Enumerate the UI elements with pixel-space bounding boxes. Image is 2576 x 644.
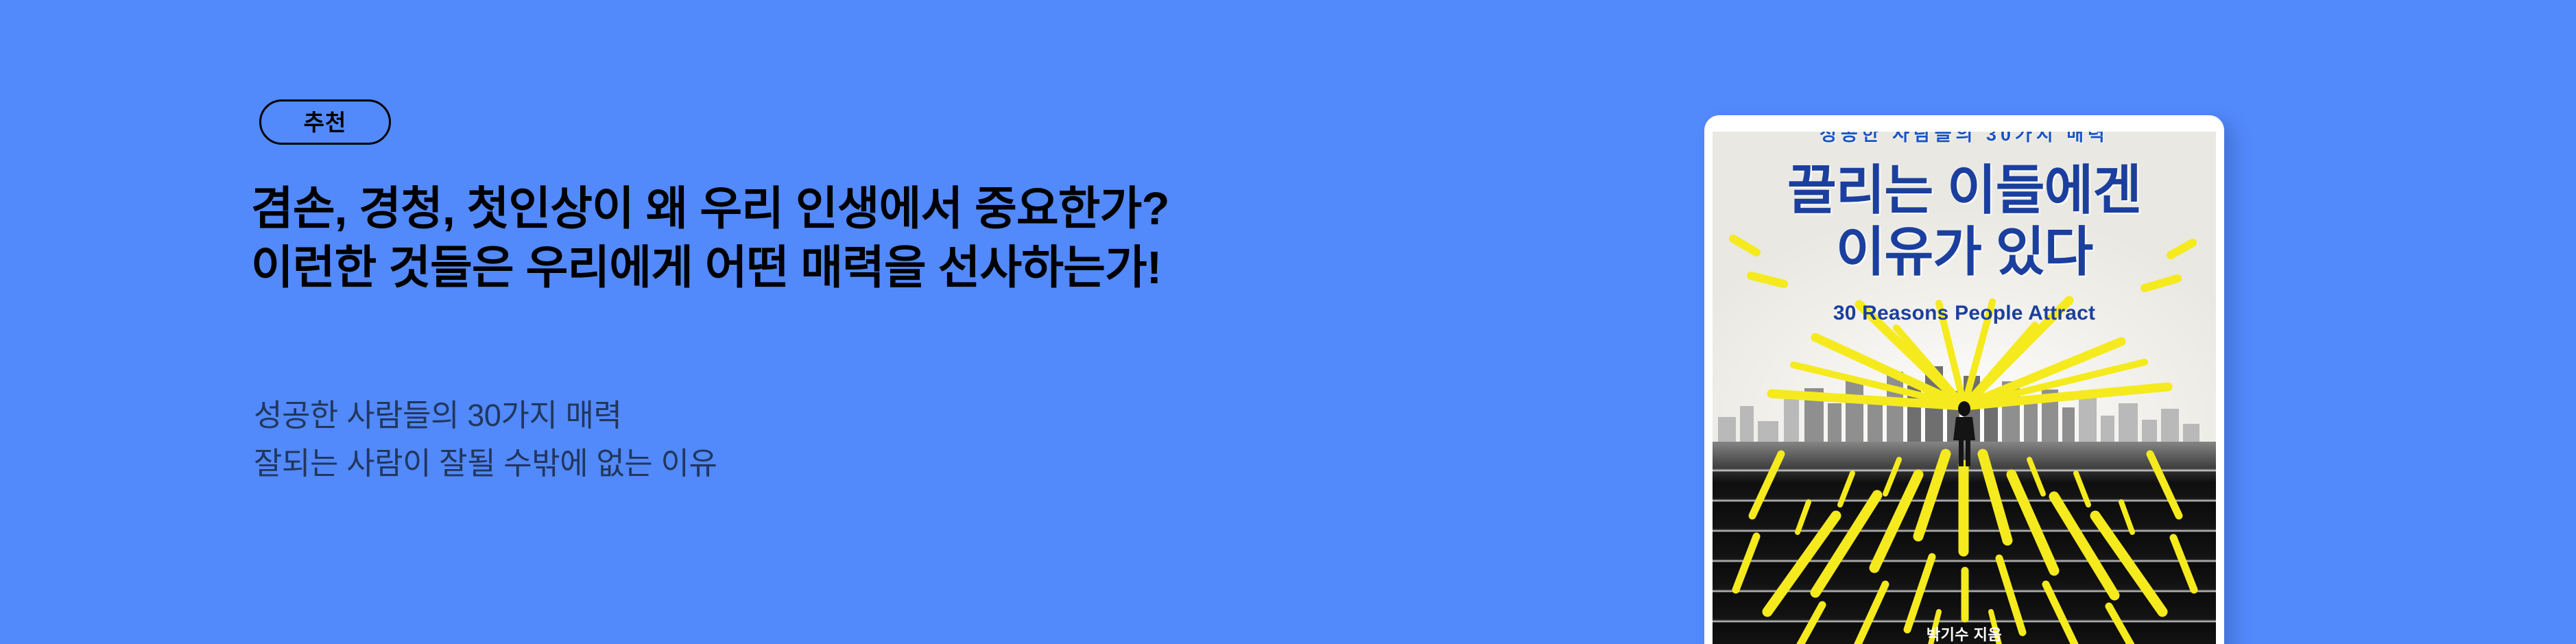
promo-banner: 추천 겸손, 경청, 첫인상이 왜 우리 인생에서 중요한가? 이런한 것들은 … — [0, 0, 2576, 644]
headline-line-2: 이런한 것들은 우리에게 어떤 매력을 선사하는가! — [251, 239, 1169, 298]
businessman-silhouette-icon — [1946, 401, 1982, 466]
subcopy-line-1: 성공한 사람들의 30가지 매력 — [254, 392, 717, 440]
cover-author: 박기수 지음 — [1713, 623, 2216, 644]
cover-title-line-2: 이유가 있다 — [1713, 221, 2216, 283]
recommendation-badge[interactable]: 추천 — [259, 99, 391, 145]
book-cover-artwork: 성공한 사람들의 30가지 매력 끌리는 이들에겐 이유가 있다 30 Reas… — [1713, 132, 2216, 644]
banner-subcopy: 성공한 사람들의 30가지 매력 잘되는 사람이 잘될 수밖에 없는 이유 — [254, 392, 717, 488]
cover-title: 끌리는 이들에겐 이유가 있다 — [1713, 159, 2216, 283]
subcopy-line-2: 잘되는 사람이 잘될 수밖에 없는 이유 — [254, 440, 717, 488]
cover-english-subtitle: 30 Reasons People Attract — [1713, 302, 2216, 325]
banner-copy-block: 추천 겸손, 경청, 첫인상이 왜 우리 인생에서 중요한가? 이런한 것들은 … — [251, 0, 1588, 644]
stairs-graphic — [1713, 442, 2216, 644]
banner-headline: 겸손, 경청, 첫인상이 왜 우리 인생에서 중요한가? 이런한 것들은 우리에… — [251, 180, 1169, 298]
cover-title-line-1: 끌리는 이들에겐 — [1713, 159, 2216, 221]
cover-tagline: 성공한 사람들의 30가지 매력 — [1713, 132, 2216, 146]
book-cover-card[interactable]: 성공한 사람들의 30가지 매력 끌리는 이들에겐 이유가 있다 30 Reas… — [1704, 115, 2224, 644]
headline-line-1: 겸손, 경청, 첫인상이 왜 우리 인생에서 중요한가? — [251, 180, 1169, 239]
